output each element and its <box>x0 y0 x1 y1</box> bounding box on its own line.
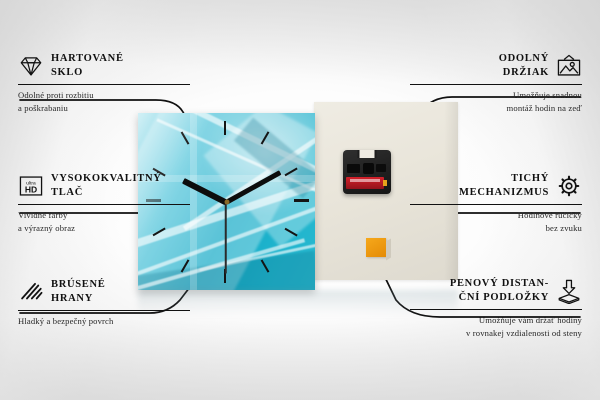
feature-title: BRÚSENÉ HRANY <box>51 278 106 306</box>
diamond-icon <box>18 53 44 79</box>
divider <box>410 204 582 206</box>
clock-center-pin <box>224 199 229 204</box>
feature-title: VYSOKOKVALITNÝ TLAČ <box>51 172 162 200</box>
clock-mechanism <box>343 150 391 194</box>
svg-text:HD: HD <box>25 184 37 194</box>
gear-icon <box>556 173 582 199</box>
feature-silent-mechanism: TICHÝ MECHANIZMUS Hodinové ručičky bez z… <box>410 172 582 234</box>
ground-edges-icon <box>18 279 44 305</box>
divider <box>410 84 582 86</box>
feature-subtitle: Hladký a bezpečný povrch <box>18 315 190 327</box>
feature-subtitle: Umožňuje snadnou montáž hodin na zeď <box>410 89 582 113</box>
feature-title: HARTOVANÉ SKLO <box>51 52 124 80</box>
foam-spacer-pad <box>366 238 386 257</box>
picture-hanger-icon <box>556 53 582 79</box>
feature-title: ODOLNÝ DRŽIAK <box>499 52 549 80</box>
divider <box>18 310 190 312</box>
feature-subtitle: Umožňuje vám držať hodiny v rovnakej vzd… <box>410 314 582 338</box>
feature-hardened-glass: HARTOVANÉ SKLO Odolné proti rozbitiu a p… <box>18 52 190 114</box>
foam-spacer-icon <box>556 278 582 304</box>
infographic-canvas: HARTOVANÉ SKLO Odolné proti rozbitiu a p… <box>0 0 600 400</box>
feature-ground-edges: BRÚSENÉ HRANY Hladký a bezpečný povrch <box>18 278 190 328</box>
divider <box>410 309 582 311</box>
feature-subtitle: Odolné proti rozbitiu a poškrabaniu <box>18 89 190 113</box>
feature-subtitle: Vividné farby a výrazný obraz <box>18 209 190 233</box>
mechanism-hook <box>358 150 377 158</box>
divider <box>18 204 190 206</box>
feature-foam-spacers: PENOVÝ DISTAN- ČNÍ PODLOŽKY Umožňuje vám… <box>410 277 582 339</box>
feature-high-quality-print: ultra HD VYSOKOKVALITNÝ TLAČ Vividné far… <box>18 172 190 234</box>
divider <box>18 84 190 86</box>
battery <box>346 177 384 189</box>
feature-title: PENOVÝ DISTAN- ČNÍ PODLOŽKY <box>450 277 549 305</box>
feature-subtitle: Hodinové ručičky bez zvuku <box>410 209 582 233</box>
feature-durable-hanger: ODOLNÝ DRŽIAK Umožňuje snadnou montáž ho… <box>410 52 582 114</box>
feature-title: TICHÝ MECHANIZMUS <box>459 172 549 200</box>
ultra-hd-icon: ultra HD <box>18 173 44 199</box>
